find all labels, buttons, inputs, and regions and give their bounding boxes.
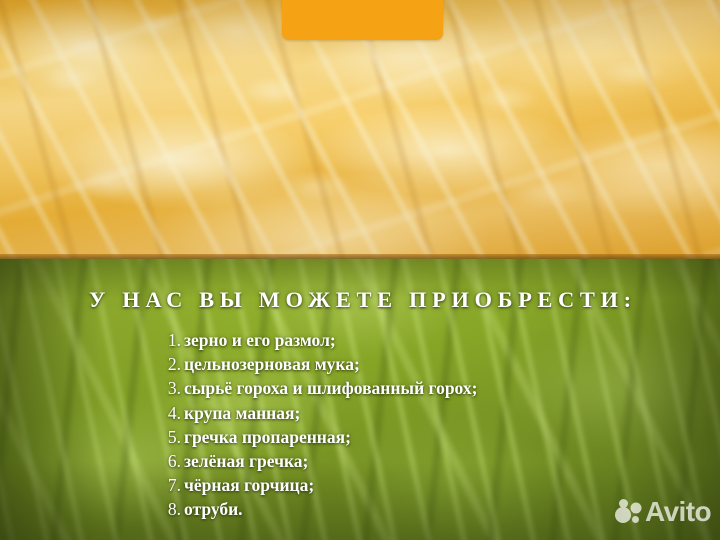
avito-watermark: Avito [614,498,711,526]
orange-label-banner [282,0,443,40]
list-item: 2. цельнозерновая мука; [0,352,720,376]
list-item-number: 6. [160,449,181,473]
list-item-number: 3. [160,376,181,400]
advertisement-card: У НАС ВЫ МОЖЕТЕ ПРИОБРЕСТИ: 1. зерно и е… [0,0,720,540]
list-item: 4. крупа манная; [0,401,720,425]
list-item-label: гречка пропаренная; [184,425,351,449]
list-item-label: сырьё гороха и шлифованный горох; [184,376,477,400]
list-item: 6. зелёная гречка; [0,449,720,473]
list-item-number: 1. [160,328,181,352]
list-item-label: зелёная гречка; [184,449,308,473]
list-item: 3. сырьё гороха и шлифованный горох; [0,376,720,400]
avito-dots-icon [614,499,642,525]
avito-wordmark: Avito [645,498,711,526]
list-item-number: 7. [160,473,181,497]
list-item: 5. гречка пропаренная; [0,425,720,449]
list-item-number: 2. [160,352,181,376]
list-item: 1. зерно и его размол; [0,328,720,352]
list-item: 8. отруби. [0,497,720,521]
list-item-label: цельнозерновая мука; [184,352,360,376]
list-item-label: отруби. [184,497,243,521]
headline: У НАС ВЫ МОЖЕТЕ ПРИОБРЕСТИ: [0,287,720,313]
list-item-label: зерно и его размол; [184,328,336,352]
list-item-label: крупа манная; [184,401,300,425]
list-item-number: 5. [160,425,181,449]
list-item: 7. чёрная горчица; [0,473,720,497]
list-item-number: 4. [160,401,181,425]
product-list: 1. зерно и его размол; 2. цельнозерновая… [0,328,720,522]
list-item-number: 8. [160,497,181,521]
list-item-label: чёрная горчица; [184,473,314,497]
